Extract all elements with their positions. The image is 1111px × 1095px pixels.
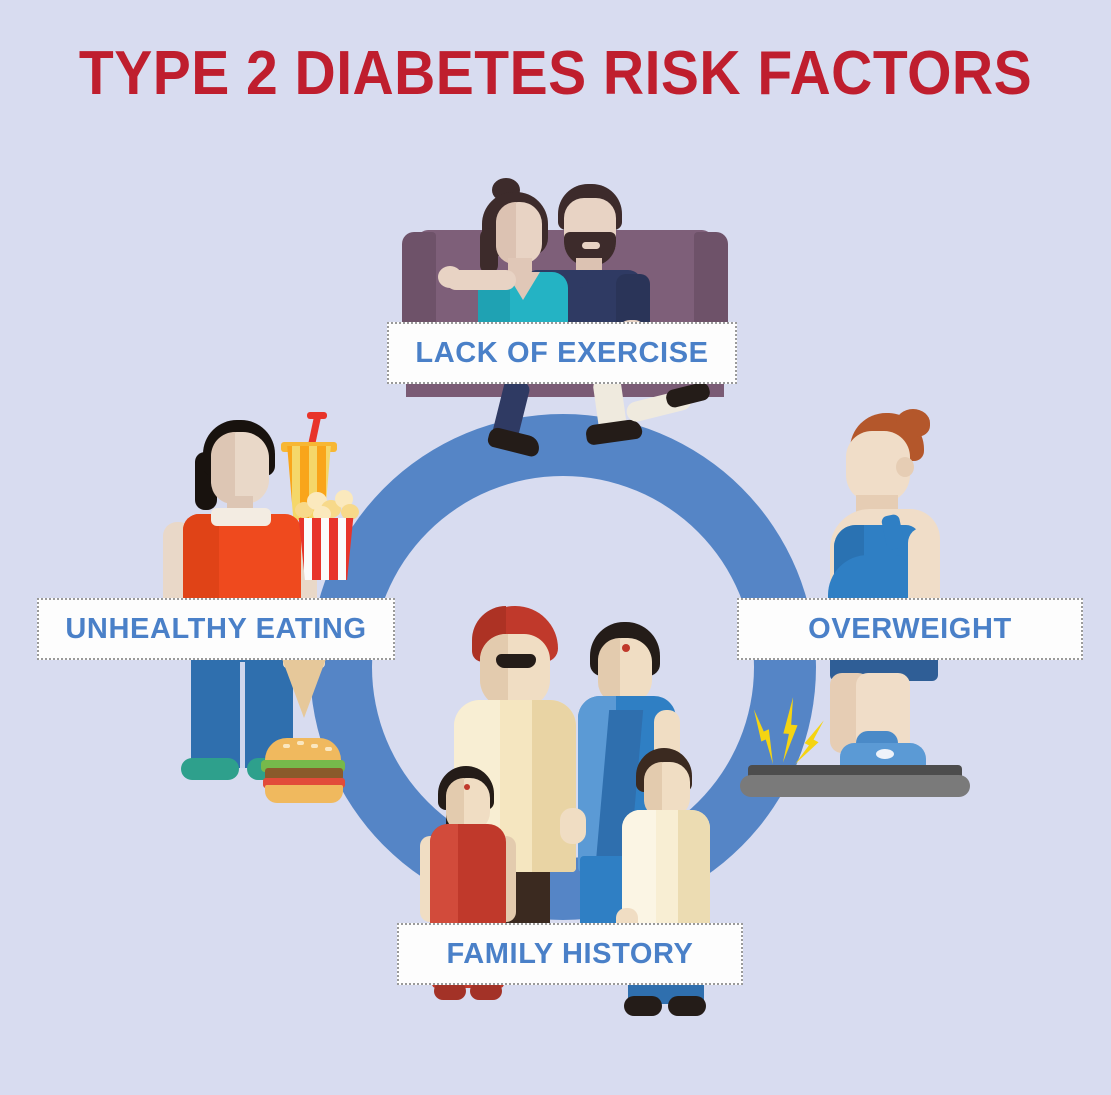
woman-hand bbox=[438, 266, 462, 288]
father-hand bbox=[560, 808, 586, 844]
overweight-person-ear bbox=[896, 457, 914, 477]
mother-face-shading bbox=[598, 638, 620, 704]
weighing-scale-base bbox=[740, 775, 970, 797]
eater-collar bbox=[211, 508, 271, 526]
mother-bindi bbox=[622, 644, 630, 652]
popcorn-box-icon bbox=[295, 518, 357, 580]
label-lack-of-exercise[interactable]: LACK OF EXERCISE bbox=[387, 322, 737, 384]
father-mustache bbox=[496, 654, 536, 668]
page-title: TYPE 2 DIABETES RISK FACTORS bbox=[44, 38, 1066, 109]
man-mouth bbox=[582, 242, 600, 249]
eater-shoe-left bbox=[181, 758, 239, 780]
father-face-shading bbox=[480, 634, 508, 708]
eater-jeans-split bbox=[240, 662, 245, 768]
label-unhealthy-eating[interactable]: UNHEALTHY EATING bbox=[37, 598, 395, 660]
overweight-person-hair-tuft bbox=[896, 409, 930, 437]
infographic-poster: TYPE 2 DIABETES RISK FACTORS bbox=[0, 0, 1111, 1095]
girl-bindi bbox=[464, 784, 470, 790]
boy-shoe-right bbox=[668, 996, 706, 1016]
soda-straw-tip-icon bbox=[307, 412, 327, 419]
burger-bottom-bun-icon bbox=[265, 785, 343, 803]
woman-face-shading bbox=[496, 202, 516, 264]
overweight-person-shoe-detail bbox=[876, 749, 894, 759]
boy-shoe-left bbox=[624, 996, 662, 1016]
eater-face-shading bbox=[211, 432, 235, 504]
father-kurta-shading bbox=[532, 700, 576, 872]
label-overweight[interactable]: OVERWEIGHT bbox=[737, 598, 1083, 660]
label-family-history[interactable]: FAMILY HISTORY bbox=[397, 923, 743, 985]
illustration-lack-of-exercise bbox=[380, 170, 750, 435]
